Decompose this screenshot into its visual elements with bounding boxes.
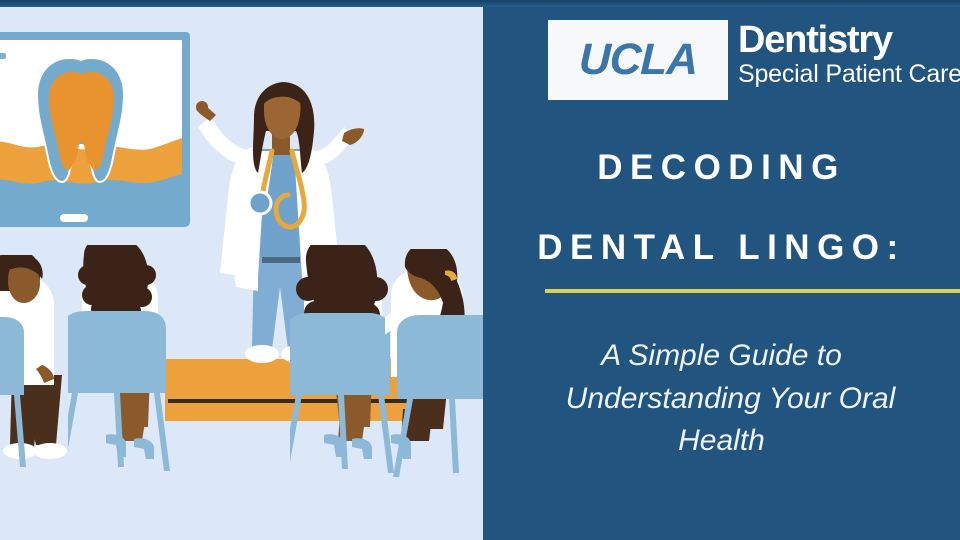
presentation-slide: UCLA Dentistry Special Patient Care DECO…	[0, 0, 960, 540]
audience-member-4	[385, 249, 483, 499]
text-panel: UCLA Dentistry Special Patient Care DECO…	[483, 0, 960, 540]
presentation-screen-stand	[0, 210, 190, 227]
brand-unit: Special Patient Care	[738, 61, 960, 87]
slide-subtitle: A Simple Guide to Understanding Your Ora…	[483, 335, 960, 463]
slide-title: DECODING DENTAL LINGO:	[483, 150, 960, 265]
audience-member-2	[68, 245, 228, 495]
ucla-logo: UCLA	[548, 20, 728, 100]
brand-lockup: Dentistry Special Patient Care	[738, 22, 960, 87]
slide-subtitle-line-2: Understanding Your Oral	[501, 378, 960, 421]
brand-name: Dentistry	[738, 22, 960, 59]
title-divider-rule	[545, 289, 960, 293]
presentation-screen-notch	[60, 214, 88, 222]
tooth-anatomy-diagram	[0, 40, 182, 201]
top-accent-strip-gradient	[0, 0, 960, 7]
slide-title-line-1: DECODING	[483, 150, 960, 185]
slide-title-line-2: DENTAL LINGO:	[483, 230, 960, 265]
slide-subtitle-line-3: Health	[483, 420, 960, 463]
illustration-panel	[0, 7, 483, 540]
slide-subtitle-line-1: A Simple Guide to	[483, 335, 960, 378]
ucla-logo-text: UCLA	[578, 35, 698, 85]
